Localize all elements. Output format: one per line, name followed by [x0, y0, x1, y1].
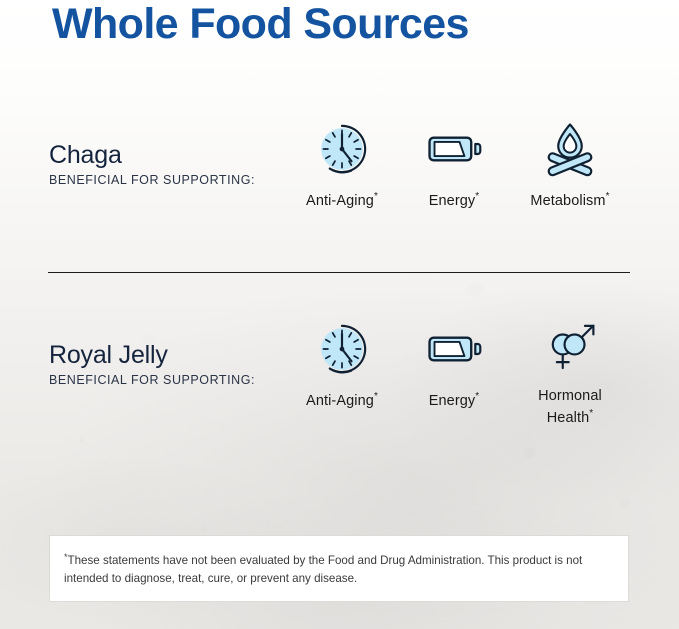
page-title: Whole Food Sources [52, 0, 469, 52]
benefit-label: Anti-Aging* [283, 388, 401, 410]
benefit-label-line-1: Hormonal [538, 388, 602, 404]
benefit-list: Anti-Aging* Energy* [283, 318, 653, 438]
clock-icon [283, 318, 401, 380]
battery-icon [395, 118, 513, 180]
section-royal-jelly: Royal Jelly BENEFICIAL FOR SUPPORTING: [0, 318, 679, 438]
clock-icon [283, 118, 401, 180]
benefit-item-hormonal-health: HormonalHealth* [511, 318, 629, 427]
asterisk: * [475, 391, 479, 402]
benefit-label: Anti-Aging* [283, 188, 401, 210]
asterisk: * [606, 191, 610, 202]
section-title: Chaga [49, 140, 289, 170]
campfire-icon [511, 118, 629, 180]
gender-symbols-icon [511, 318, 629, 380]
section-title: Royal Jelly [49, 340, 289, 370]
section-label: Chaga BENEFICIAL FOR SUPPORTING: [49, 140, 289, 188]
section-subtitle: BENEFICIAL FOR SUPPORTING: [49, 172, 289, 188]
section-subtitle: BENEFICIAL FOR SUPPORTING: [49, 372, 289, 388]
benefit-label: Energy* [395, 188, 513, 210]
disclaimer-text: These statements have not been evaluated… [64, 554, 582, 585]
benefit-list: Anti-Aging* Energy* [283, 118, 653, 238]
benefit-label: Energy* [395, 388, 513, 410]
section-chaga: Chaga BENEFICIAL FOR SUPPORTING: [0, 118, 679, 238]
benefit-item-anti-aging: Anti-Aging* [283, 318, 401, 410]
asterisk: * [374, 191, 378, 202]
benefit-label-line-2: Health [547, 410, 590, 426]
asterisk: * [475, 191, 479, 202]
product-infographic: Whole Food Sources Chaga BENEFICIAL FOR … [0, 0, 679, 629]
asterisk: * [589, 408, 593, 419]
benefit-item-metabolism: Metabolism* [511, 118, 629, 210]
disclaimer-box: *These statements have not been evaluate… [49, 535, 629, 602]
benefit-item-energy: Energy* [395, 318, 513, 410]
benefit-item-energy: Energy* [395, 118, 513, 210]
battery-icon [395, 318, 513, 380]
benefit-label: Metabolism* [511, 188, 629, 210]
asterisk: * [374, 391, 378, 402]
section-label: Royal Jelly BENEFICIAL FOR SUPPORTING: [49, 340, 289, 388]
section-divider [48, 272, 630, 273]
benefit-item-anti-aging: Anti-Aging* [283, 118, 401, 210]
benefit-label: HormonalHealth* [511, 388, 629, 427]
